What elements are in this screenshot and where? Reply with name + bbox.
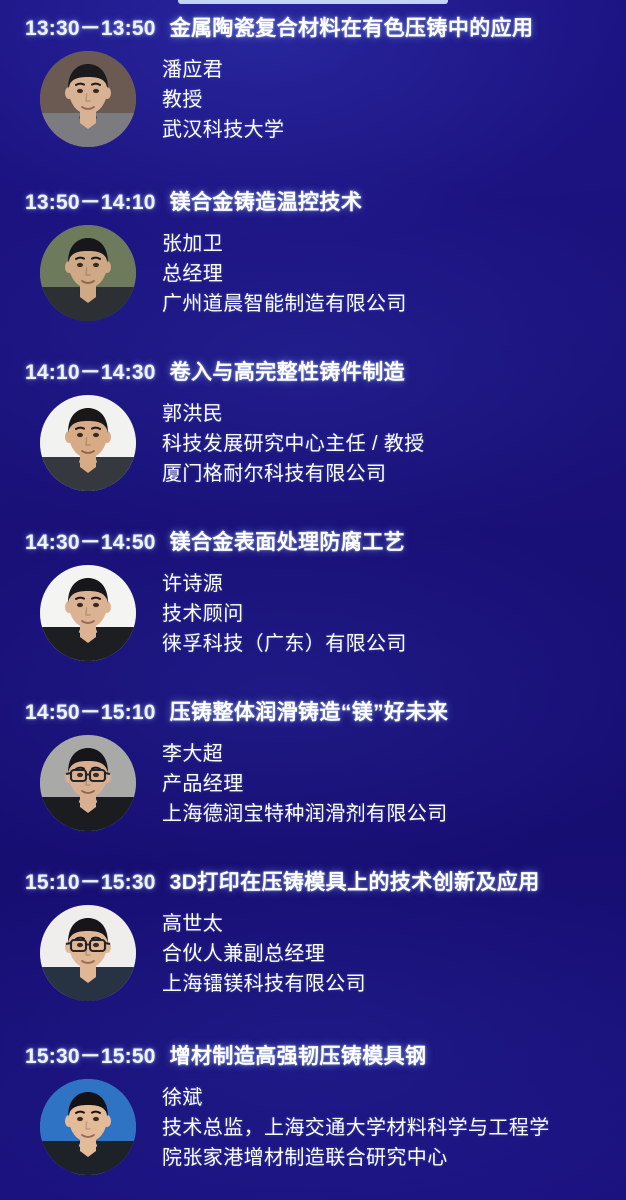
speaker-affiliation: 上海镭镁科技有限公司	[162, 969, 366, 999]
speaker-avatar	[40, 905, 136, 1001]
session-block[interactable]: 13:30－13:50金属陶瓷复合材料在有色压铸中的应用 潘应君教授武汉科技大学	[0, 12, 626, 147]
session-time: 13:50－14:10	[25, 186, 156, 216]
session-title: 镁合金铸造温控技术	[170, 186, 363, 216]
session-header: 15:10－15:303D打印在压铸模具上的技术创新及应用	[0, 866, 626, 896]
session-time: 14:30－14:50	[25, 526, 156, 556]
speaker-block: 郭洪民科技发展研究中心主任 / 教授厦门格耐尔科技有限公司	[0, 395, 626, 491]
speaker-role: 技术顾问	[162, 599, 407, 629]
speaker-avatar	[40, 395, 136, 491]
speaker-affiliation: 院张家港增材制造联合研究中心	[162, 1143, 550, 1173]
speaker-name: 徐斌	[162, 1083, 550, 1113]
session-time: 15:10－15:30	[25, 866, 156, 896]
speaker-avatar	[40, 51, 136, 147]
session-time: 15:30－15:50	[25, 1040, 156, 1070]
speaker-role: 合伙人兼副总经理	[162, 939, 366, 969]
speaker-role: 产品经理	[162, 769, 448, 799]
session-block[interactable]: 15:10－15:303D打印在压铸模具上的技术创新及应用 高世太合伙人兼副总经…	[0, 866, 626, 1001]
speaker-block: 徐斌技术总监，上海交通大学材料科学与工程学院张家港增材制造联合研究中心	[0, 1079, 626, 1175]
session-header: 14:50－15:10压铸整体润滑铸造“镁”好未来	[0, 696, 626, 726]
session-title: 金属陶瓷复合材料在有色压铸中的应用	[170, 12, 534, 42]
speaker-block: 许诗源技术顾问徕孚科技（广东）有限公司	[0, 565, 626, 661]
speaker-details: 郭洪民科技发展研究中心主任 / 教授厦门格耐尔科技有限公司	[162, 395, 425, 489]
speaker-name: 李大超	[162, 739, 448, 769]
session-block[interactable]: 14:10－14:30卷入与高完整性铸件制造 郭洪民科技发展研究中心主任 / 教…	[0, 356, 626, 491]
speaker-avatar	[40, 1079, 136, 1175]
speaker-role: 教授	[162, 85, 284, 115]
speaker-name: 潘应君	[162, 55, 284, 85]
speaker-block: 张加卫总经理广州道晨智能制造有限公司	[0, 225, 626, 321]
session-title: 3D打印在压铸模具上的技术创新及应用	[170, 866, 540, 896]
speaker-name: 许诗源	[162, 569, 407, 599]
session-title: 压铸整体润滑铸造“镁”好未来	[170, 696, 449, 726]
speaker-name: 张加卫	[162, 229, 407, 259]
session-header: 13:30－13:50金属陶瓷复合材料在有色压铸中的应用	[0, 12, 626, 42]
speaker-details: 徐斌技术总监，上海交通大学材料科学与工程学院张家港增材制造联合研究中心	[162, 1079, 550, 1173]
session-title: 镁合金表面处理防腐工艺	[170, 526, 405, 556]
session-header: 14:10－14:30卷入与高完整性铸件制造	[0, 356, 626, 386]
speaker-name: 郭洪民	[162, 399, 425, 429]
session-header: 14:30－14:50镁合金表面处理防腐工艺	[0, 526, 626, 556]
speaker-affiliation: 武汉科技大学	[162, 115, 284, 145]
session-block[interactable]: 14:50－15:10压铸整体润滑铸造“镁”好未来 李大超产品经理上海德润宝特种…	[0, 696, 626, 831]
session-header: 15:30－15:50增材制造高强韧压铸模具钢	[0, 1040, 626, 1070]
speaker-block: 潘应君教授武汉科技大学	[0, 51, 626, 147]
session-block[interactable]: 13:50－14:10镁合金铸造温控技术 张加卫总经理广州道晨智能制造有限公司	[0, 186, 626, 321]
session-block[interactable]: 15:30－15:50增材制造高强韧压铸模具钢 徐斌技术总监，上海交通大学材料科…	[0, 1040, 626, 1175]
speaker-affiliation: 上海德润宝特种润滑剂有限公司	[162, 799, 448, 829]
speaker-name: 高世太	[162, 909, 366, 939]
session-schedule-list: 13:30－13:50金属陶瓷复合材料在有色压铸中的应用 潘应君教授武汉科技大学…	[0, 0, 626, 1200]
speaker-affiliation: 徕孚科技（广东）有限公司	[162, 629, 407, 659]
session-time: 14:50－15:10	[25, 696, 156, 726]
speaker-details: 高世太合伙人兼副总经理上海镭镁科技有限公司	[162, 905, 366, 999]
speaker-avatar	[40, 735, 136, 831]
speaker-role: 技术总监，上海交通大学材料科学与工程学	[162, 1113, 550, 1143]
speaker-affiliation: 广州道晨智能制造有限公司	[162, 289, 407, 319]
session-title: 卷入与高完整性铸件制造	[170, 356, 405, 386]
speaker-block: 高世太合伙人兼副总经理上海镭镁科技有限公司	[0, 905, 626, 1001]
speaker-details: 许诗源技术顾问徕孚科技（广东）有限公司	[162, 565, 407, 659]
speaker-details: 李大超产品经理上海德润宝特种润滑剂有限公司	[162, 735, 448, 829]
speaker-role: 总经理	[162, 259, 407, 289]
speaker-details: 潘应君教授武汉科技大学	[162, 51, 284, 145]
speaker-affiliation: 厦门格耐尔科技有限公司	[162, 459, 425, 489]
speaker-role: 科技发展研究中心主任 / 教授	[162, 429, 425, 459]
speaker-avatar	[40, 225, 136, 321]
speaker-block: 李大超产品经理上海德润宝特种润滑剂有限公司	[0, 735, 626, 831]
session-time: 14:10－14:30	[25, 356, 156, 386]
session-block[interactable]: 14:30－14:50镁合金表面处理防腐工艺 许诗源技术顾问徕孚科技（广东）有限…	[0, 526, 626, 661]
session-title: 增材制造高强韧压铸模具钢	[170, 1040, 427, 1070]
speaker-avatar	[40, 565, 136, 661]
session-header: 13:50－14:10镁合金铸造温控技术	[0, 186, 626, 216]
speaker-details: 张加卫总经理广州道晨智能制造有限公司	[162, 225, 407, 319]
session-time: 13:30－13:50	[25, 12, 156, 42]
